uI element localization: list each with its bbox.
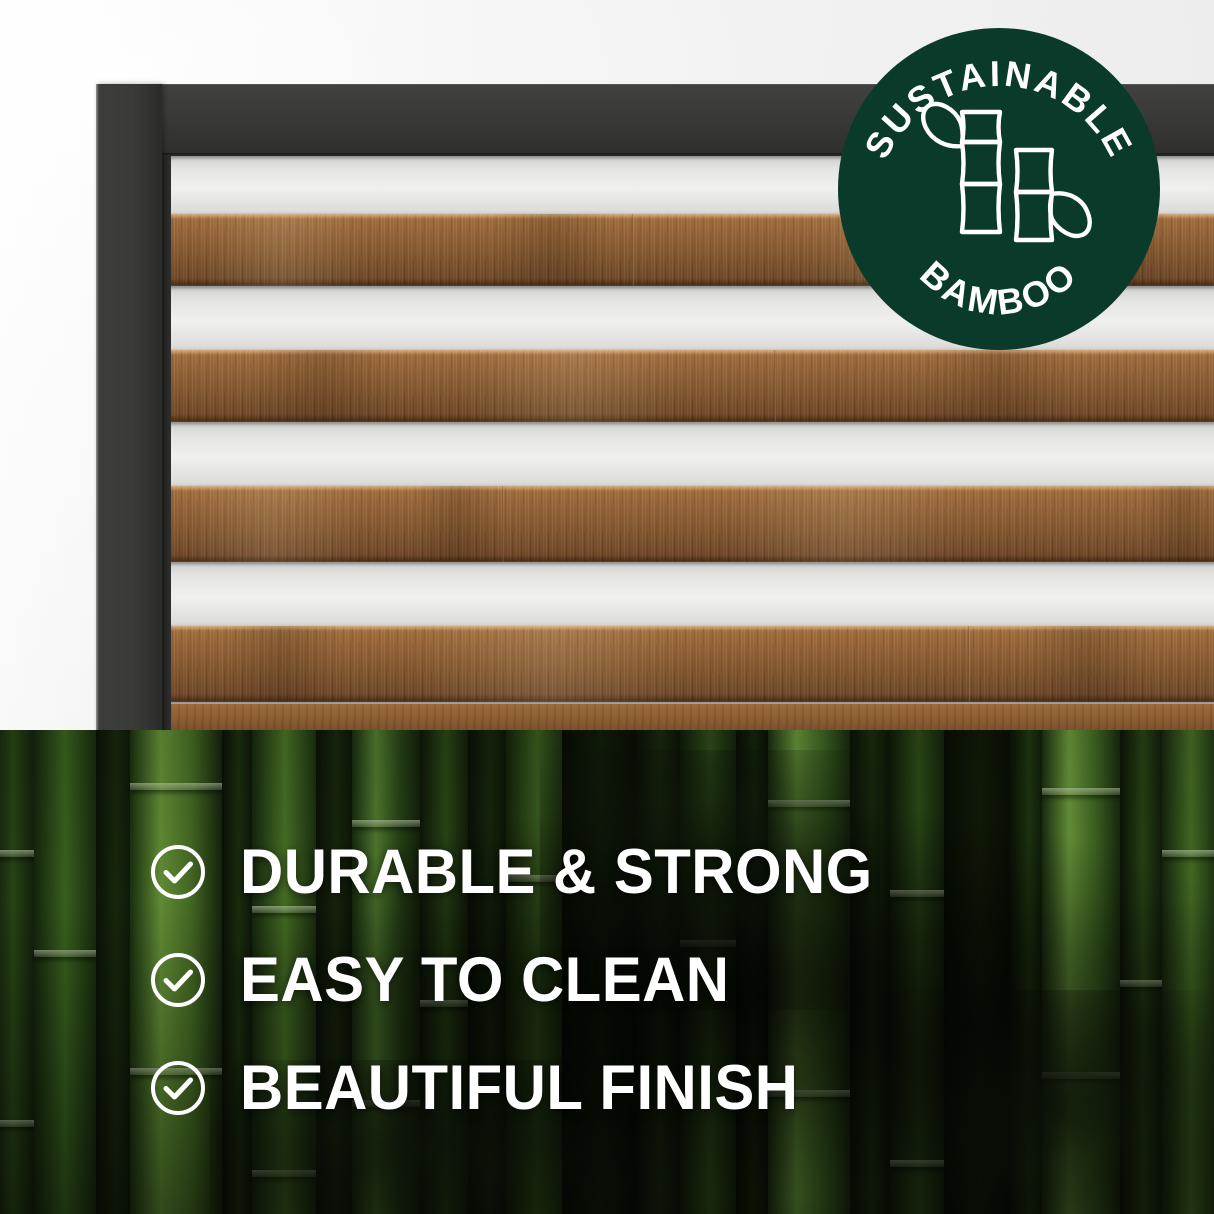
check-circle-icon [150,952,206,1008]
bamboo-culm [1162,730,1214,1214]
bamboo-culm [34,730,96,1214]
product-photo: SUSTAINABLE BAMBOO [0,0,1214,730]
sustainable-bamboo-badge: SUSTAINABLE BAMBOO [838,28,1160,350]
feature-item: DURABLE & STRONG [150,818,1110,926]
slat-gap [162,562,1214,626]
bamboo-culm [0,730,36,1214]
frame-left-post [96,84,162,730]
bamboo-slat [162,350,1214,422]
frame-inner-shadow [162,156,171,730]
check-circle-icon [150,844,206,900]
bamboo-bottom-board [162,704,1214,730]
feature-label: EASY TO CLEAN [240,949,730,1012]
bamboo-slat [162,486,1214,562]
feature-label: DURABLE & STRONG [240,841,873,904]
feature-item: BEAUTIFUL FINISH [150,1034,1110,1142]
product-infographic: SUSTAINABLE BAMBOO [0,0,1214,1214]
bamboo-culm [1120,730,1166,1214]
slat-gap [162,422,1214,486]
feature-list: DURABLE & STRONG EASY TO CLEAN BEAUTIFUL… [150,818,1110,1142]
feature-item: EASY TO CLEAN [150,926,1110,1034]
check-circle-icon [150,1060,206,1116]
bamboo-slat [162,626,1214,702]
feature-label: BEAUTIFUL FINISH [240,1057,798,1120]
